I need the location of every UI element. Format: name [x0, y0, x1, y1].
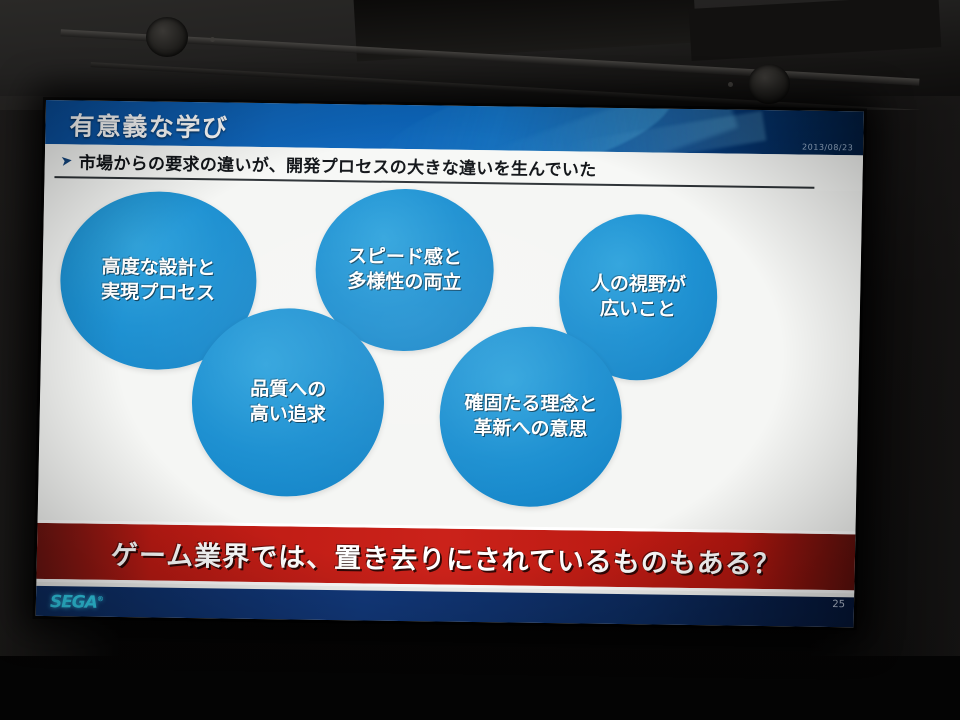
projection-screen: 有意義な学び 2013/08/23 ➤ 市場からの要求の違いが、開発プロセスの大… — [36, 100, 864, 627]
circle-line-2: 革新への意思 — [473, 416, 588, 443]
circle-line-2: 広いこと — [600, 297, 677, 324]
circle-line-2: 高い追求 — [249, 402, 326, 429]
slide-subtitle: 市場からの要求の違いが、開発プロセスの大きな違いを生んでいた — [79, 148, 597, 180]
circle-line-2: 多様性の両立 — [347, 269, 462, 296]
sega-logo: SEGA® — [50, 592, 103, 613]
circle-quality-pursuit: 品質への 高い追求 — [190, 307, 386, 498]
ceiling-panel — [689, 0, 942, 61]
banner-text: ゲーム業界では、置き去りにされているものもある？ — [111, 532, 782, 580]
circle-firm-philosophy: 確固たる理念と 革新への意思 — [438, 326, 624, 509]
slide-date: 2013/08/23 — [802, 143, 853, 153]
ceiling-screw-icon — [728, 82, 733, 87]
circle-line-1: 人の視野が — [591, 271, 687, 298]
circle-line-1: 高度な設計と — [101, 254, 216, 281]
circle-line-1: スピード感と — [348, 244, 463, 271]
slide-conclusion-banner: ゲーム業界では、置き去りにされているものもある？ — [36, 520, 855, 593]
sega-logo-text: SEGA — [50, 592, 97, 613]
registered-mark-icon: ® — [97, 595, 103, 603]
presentation-slide: 有意義な学び 2013/08/23 ➤ 市場からの要求の違いが、開発プロセスの大… — [36, 100, 864, 627]
page-number: 25 — [832, 599, 845, 610]
ceiling-screw-icon — [210, 37, 215, 42]
circle-line-2: 実現プロセス — [101, 280, 216, 307]
chevron-bullet-icon: ➤ — [60, 153, 74, 170]
circle-line-1: 品質への — [250, 376, 327, 403]
ceiling-vent-icon — [146, 17, 188, 57]
circle-line-1: 確固たる理念と — [464, 390, 598, 417]
ceiling-vent-icon — [748, 64, 790, 104]
slide-body: 高度な設計と 実現プロセス スピード感と 多様性の両立 人の視野が 広いこと 品… — [37, 180, 862, 541]
slide-title: 有意義な学び — [69, 106, 229, 144]
